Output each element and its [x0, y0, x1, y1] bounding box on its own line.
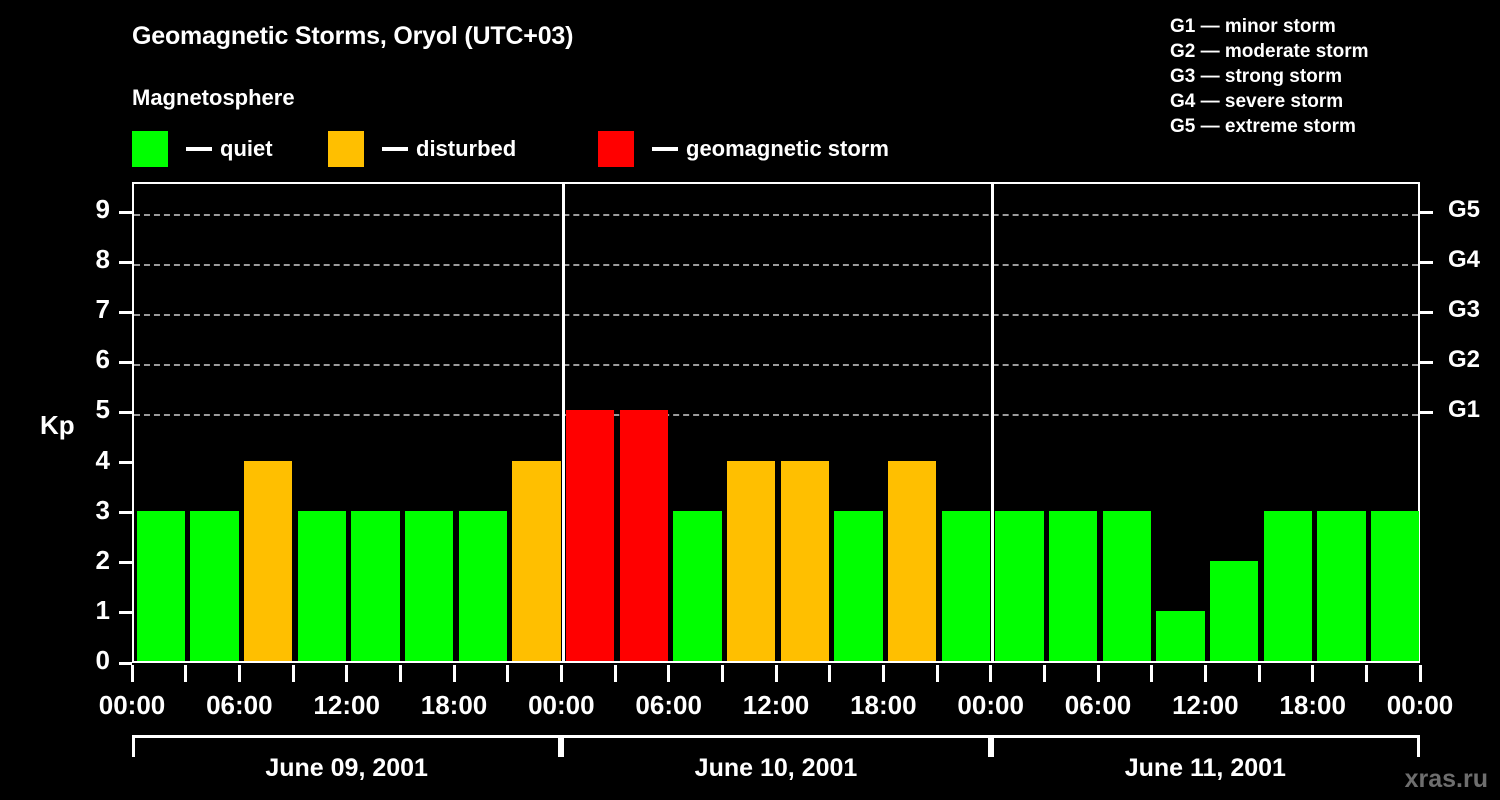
x-tick-mark: [1258, 665, 1261, 682]
x-tick-label: 12:00: [313, 690, 380, 721]
y-tick-mark-7: [119, 311, 132, 314]
x-tick-mark: [131, 665, 134, 682]
bar-kp: [298, 511, 347, 661]
x-tick-label: 18:00: [850, 690, 917, 721]
y-tick-mark-9: [119, 211, 132, 214]
x-tick-mark: [1043, 665, 1046, 682]
x-tick-mark: [828, 665, 831, 682]
g-legend-row-g3: G3 — strong storm: [1170, 64, 1490, 89]
g-tick-label-g4: G4: [1448, 246, 1480, 274]
g-tick-mark-g3: [1420, 311, 1433, 314]
geomagnetic-storm-swatch: [598, 131, 634, 167]
y-tick-mark-1: [119, 611, 132, 614]
legend-entry-disturbed: disturbed: [328, 131, 516, 167]
bar-kp: [566, 410, 615, 661]
bar-kp: [942, 511, 991, 661]
y-tick-label-6: 6: [72, 344, 110, 375]
bar-kp: [620, 410, 669, 661]
bar-kp: [459, 511, 508, 661]
legend-entry-quiet: quiet: [132, 131, 273, 167]
bar-kp: [405, 511, 454, 661]
g-tick-mark-g1: [1420, 411, 1433, 414]
legend-dash-icon: [186, 147, 212, 151]
x-tick-label: 06:00: [206, 690, 273, 721]
bar-kp: [1156, 611, 1205, 661]
y-tick-label-2: 2: [72, 545, 110, 576]
y-tick-label-4: 4: [72, 445, 110, 476]
g-tick-label-g3: G3: [1448, 296, 1480, 324]
bar-kp: [673, 511, 722, 661]
x-tick-label: 12:00: [1172, 690, 1239, 721]
x-tick-mark: [1365, 665, 1368, 682]
watermark: xras.ru: [1405, 765, 1488, 794]
legend-dash-icon: [652, 147, 678, 151]
legend-dash-icon: [382, 147, 408, 151]
bar-kp: [995, 511, 1044, 661]
bar-kp: [1264, 511, 1313, 661]
x-tick-label: 06:00: [635, 690, 702, 721]
bar-kp: [512, 461, 561, 661]
gridline-kp-7: [134, 314, 1418, 316]
y-tick-label-1: 1: [72, 595, 110, 626]
y-tick-mark-3: [119, 511, 132, 514]
bar-kp: [727, 461, 776, 661]
bar-kp: [1049, 511, 1098, 661]
y-tick-mark-2: [119, 561, 132, 564]
day-separator: [991, 182, 994, 663]
g-legend-row-g2: G2 — moderate storm: [1170, 39, 1490, 64]
legend-entry-geomagnetic-storm: geomagnetic storm: [598, 131, 889, 167]
y-tick-label-9: 9: [72, 194, 110, 225]
gridline-kp-5: [134, 414, 1418, 416]
gridline-kp-6: [134, 364, 1418, 366]
g-tick-label-g2: G2: [1448, 346, 1480, 374]
x-tick-label: 00:00: [99, 690, 166, 721]
day-label: June 09, 2001: [132, 754, 561, 783]
x-tick-mark: [775, 665, 778, 682]
g-legend-row-g1: G1 — minor storm: [1170, 14, 1490, 39]
x-tick-mark: [560, 665, 563, 682]
x-tick-mark: [238, 665, 241, 682]
day-separator: [562, 182, 565, 663]
day-label: June 11, 2001: [991, 754, 1420, 783]
g-tick-mark-g4: [1420, 261, 1433, 264]
y-tick-mark-4: [119, 461, 132, 464]
x-tick-mark: [882, 665, 885, 682]
legend-label: quiet: [220, 136, 273, 162]
plot-inner: [134, 184, 1418, 661]
x-tick-mark: [1150, 665, 1153, 682]
x-tick-label: 18:00: [421, 690, 488, 721]
disturbed-swatch: [328, 131, 364, 167]
x-tick-mark: [989, 665, 992, 682]
y-tick-label-5: 5: [72, 394, 110, 425]
x-tick-mark: [667, 665, 670, 682]
bar-kp: [888, 461, 937, 661]
x-tick-mark: [399, 665, 402, 682]
legend-label: geomagnetic storm: [686, 136, 889, 162]
y-tick-label-8: 8: [72, 244, 110, 275]
y-tick-label-7: 7: [72, 294, 110, 325]
g-tick-mark-g2: [1420, 361, 1433, 364]
x-tick-mark: [292, 665, 295, 682]
x-tick-label: 00:00: [957, 690, 1024, 721]
g-legend-row-g4: G4 — severe storm: [1170, 89, 1490, 114]
bar-kp: [781, 461, 830, 661]
bar-kp: [834, 511, 883, 661]
g-legend-row-g5: G5 — extreme storm: [1170, 114, 1490, 139]
x-tick-label: 12:00: [743, 690, 810, 721]
y-tick-label-0: 0: [72, 645, 110, 676]
bar-kp: [1371, 511, 1420, 661]
bar-kp: [1210, 561, 1259, 661]
g-tick-mark-g5: [1420, 211, 1433, 214]
bar-kp: [1103, 511, 1152, 661]
y-tick-mark-6: [119, 361, 132, 364]
page-title: Geomagnetic Storms, Oryol (UTC+03): [132, 22, 573, 51]
bar-kp: [190, 511, 239, 661]
bar-kp: [1317, 511, 1366, 661]
x-tick-mark: [345, 665, 348, 682]
x-tick-mark: [1204, 665, 1207, 682]
x-tick-mark: [506, 665, 509, 682]
gridline-kp-8: [134, 264, 1418, 266]
bar-kp: [351, 511, 400, 661]
quiet-swatch: [132, 131, 168, 167]
x-tick-label: 18:00: [1279, 690, 1346, 721]
x-tick-mark: [184, 665, 187, 682]
x-tick-mark: [1311, 665, 1314, 682]
x-tick-label: 00:00: [528, 690, 595, 721]
gridline-kp-9: [134, 214, 1418, 216]
g-scale-legend: G1 — minor stormG2 — moderate stormG3 — …: [1170, 14, 1490, 139]
y-axis-title: Kp: [40, 410, 75, 441]
chart-subtitle: Magnetosphere: [132, 85, 295, 111]
x-tick-mark: [721, 665, 724, 682]
x-tick-mark: [614, 665, 617, 682]
legend-label: disturbed: [416, 136, 516, 162]
x-tick-mark: [453, 665, 456, 682]
bar-kp: [137, 511, 186, 661]
bar-kp: [244, 461, 293, 661]
x-tick-label: 06:00: [1065, 690, 1132, 721]
x-tick-mark: [1097, 665, 1100, 682]
y-tick-mark-8: [119, 261, 132, 264]
y-tick-mark-5: [119, 411, 132, 414]
g-tick-label-g1: G1: [1448, 396, 1480, 424]
x-tick-mark: [936, 665, 939, 682]
g-tick-label-g5: G5: [1448, 196, 1480, 224]
y-tick-label-3: 3: [72, 495, 110, 526]
x-tick-mark: [1419, 665, 1422, 682]
x-tick-label: 00:00: [1387, 690, 1454, 721]
plot-area: [132, 182, 1420, 663]
day-label: June 10, 2001: [561, 754, 990, 783]
